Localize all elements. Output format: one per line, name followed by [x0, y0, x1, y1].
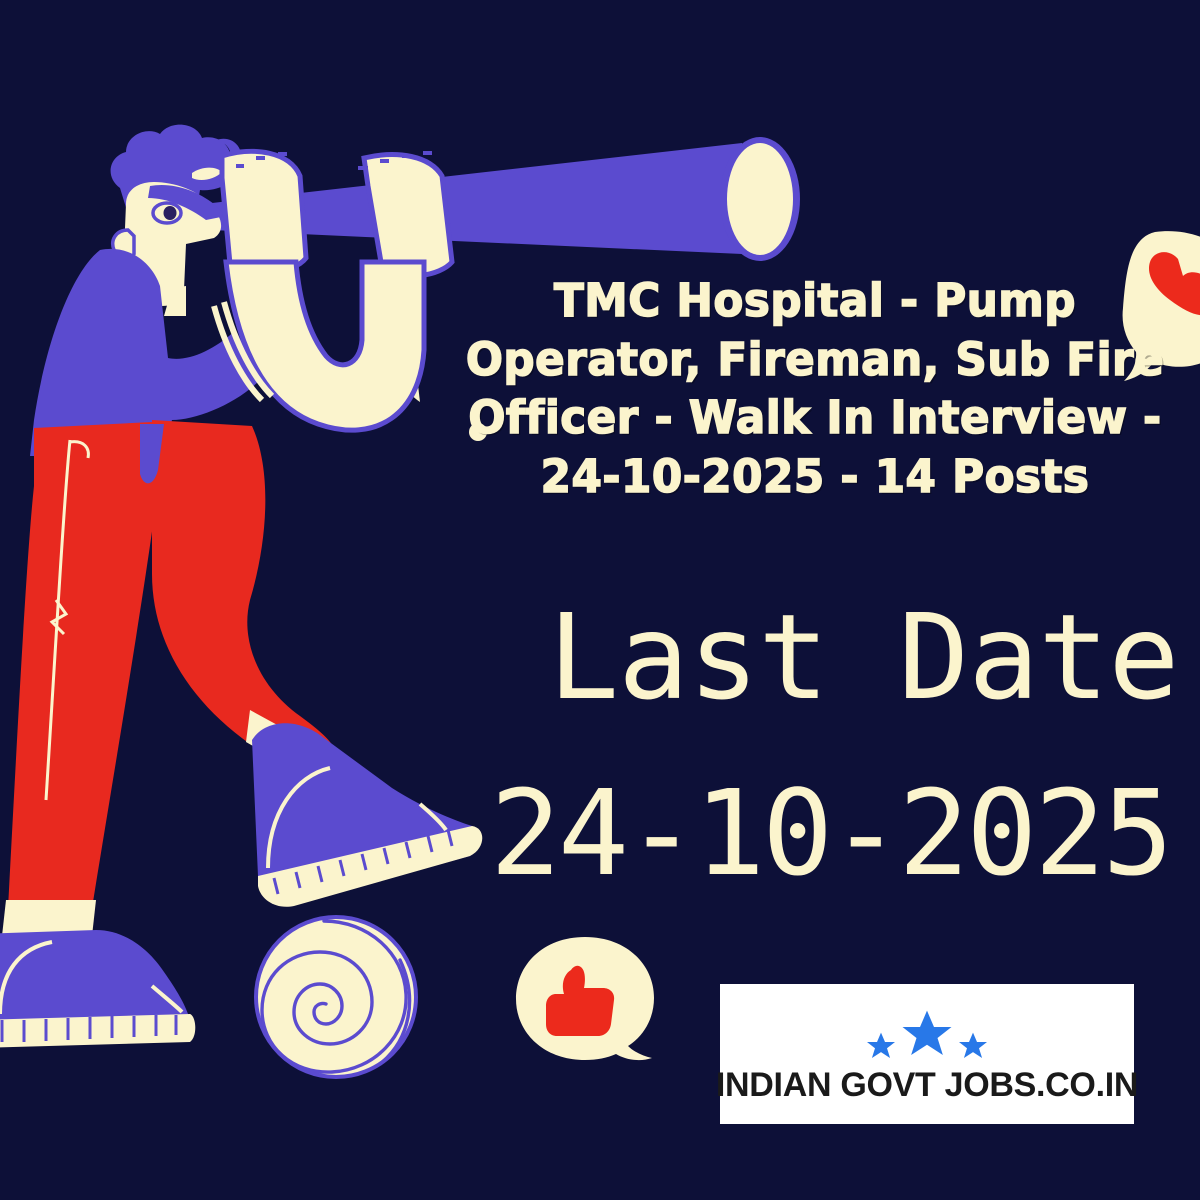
star-small-right-icon	[957, 1030, 989, 1062]
spiral-circle-icon	[256, 917, 416, 1077]
last-date-label: Last Date:	[548, 598, 1190, 716]
headline-block: TMC Hospital - Pump Operator, Fireman, S…	[455, 272, 1175, 506]
site-logo[interactable]: INDIAN GOVT JOBS.CO.IN	[720, 984, 1134, 1124]
thumbs-up-speech-bubble-icon	[516, 937, 654, 1060]
poster-canvas: TMC Hospital - Pump Operator, Fireman, S…	[0, 0, 1200, 1200]
logo-text: INDIAN GOVT JOBS.CO.IN	[716, 1066, 1138, 1105]
last-date-block: Last Date: 24-10-2025	[470, 598, 1190, 892]
character-near-arm	[222, 151, 306, 273]
star-small-left-icon	[865, 1030, 897, 1062]
star-large-center-icon	[899, 1006, 955, 1062]
logo-stars-group	[720, 1006, 1134, 1062]
last-date-value: 24-10-2025	[490, 774, 1190, 892]
page-title: TMC Hospital - Pump Operator, Fireman, S…	[466, 272, 1164, 506]
